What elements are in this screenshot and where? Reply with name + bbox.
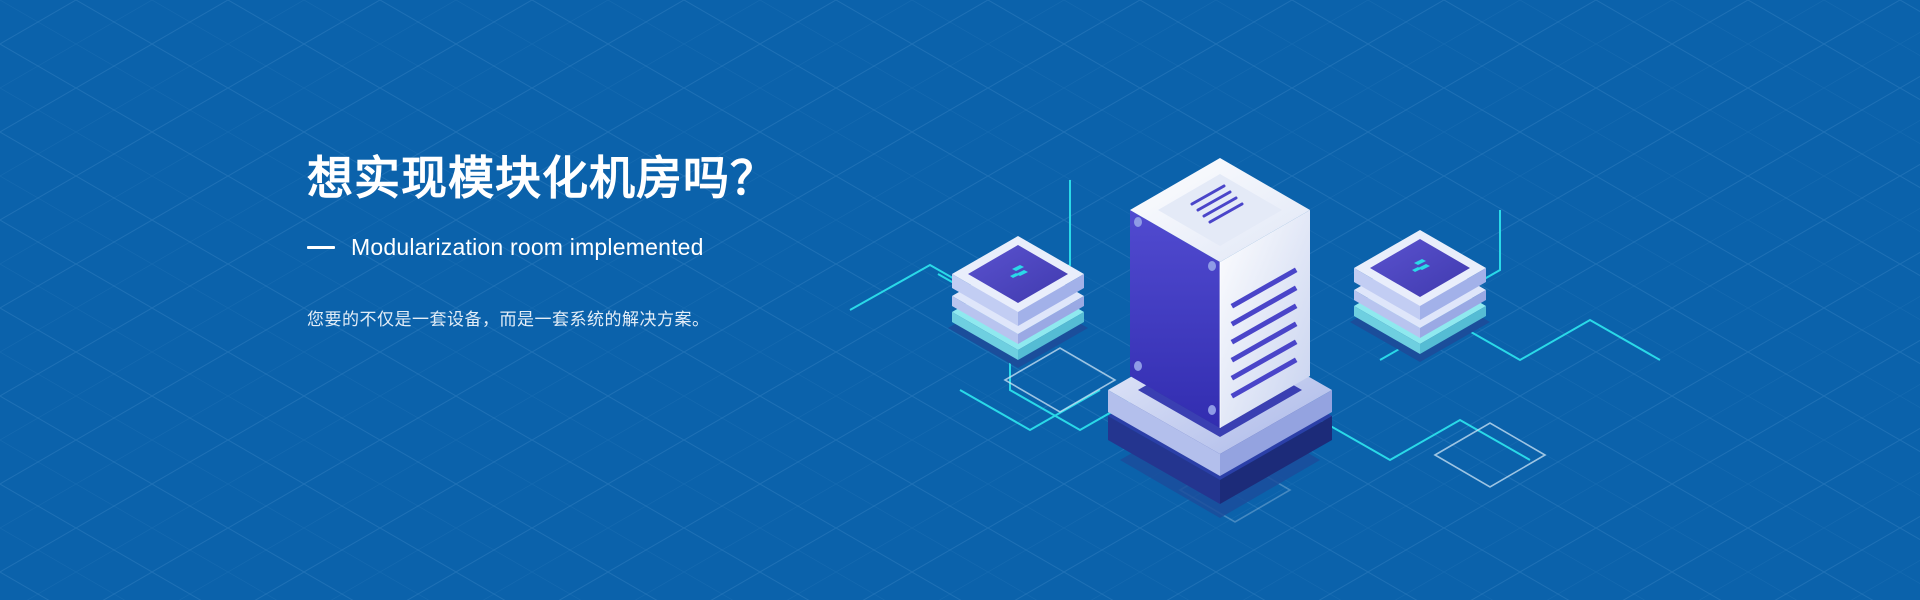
isometric-illustration xyxy=(820,60,1700,540)
illustration-svg xyxy=(820,60,1700,540)
hero-banner: 想实现模块化机房吗？ Modularization room implement… xyxy=(0,0,1920,600)
server-tower xyxy=(1130,158,1310,428)
dash-divider-icon xyxy=(307,246,335,249)
page-subtitle: Modularization room implemented xyxy=(351,234,704,261)
